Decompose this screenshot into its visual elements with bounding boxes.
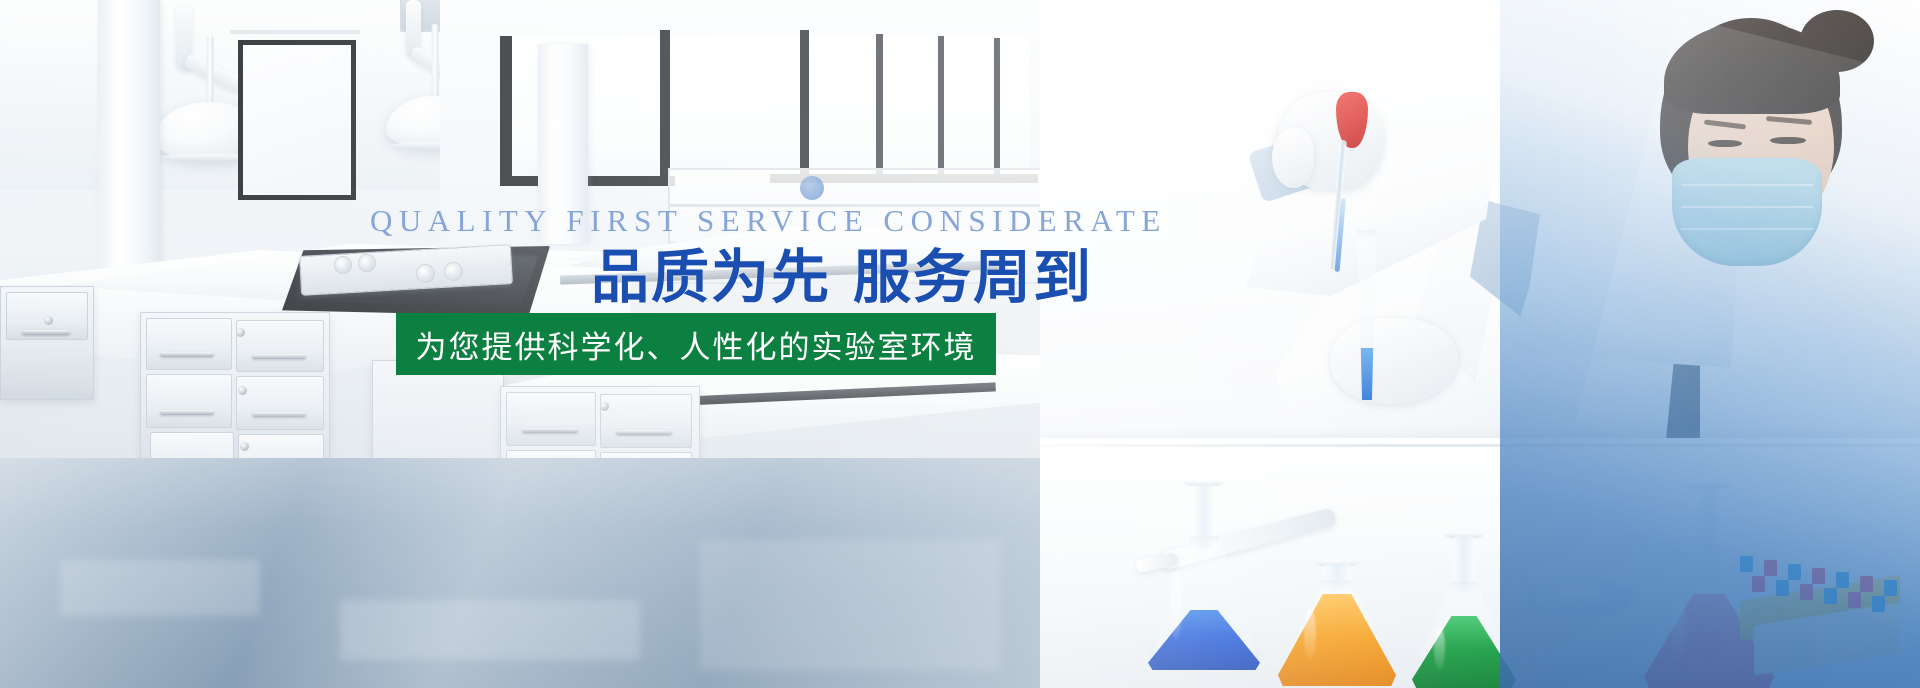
banner-eyebrow-english: QUALITY FIRST SERVICE CONSIDERATE: [370, 203, 1030, 239]
lab-hero-banner: QUALITY FIRST SERVICE CONSIDERATE 品质为先服务…: [0, 0, 1920, 688]
headline-part-one: 品质为先: [591, 243, 831, 311]
banner-subtitle-text: 为您提供科学化、人性化的实验室环境: [416, 322, 977, 367]
banner-subtitle-bar: 为您提供科学化、人性化的实验室环境: [396, 313, 996, 375]
banner-headline: 品质为先服务周到: [591, 248, 1093, 306]
headline-part-two: 服务周到: [853, 243, 1093, 311]
banner-copy-overlay: QUALITY FIRST SERVICE CONSIDERATE 品质为先服务…: [0, 0, 1920, 688]
